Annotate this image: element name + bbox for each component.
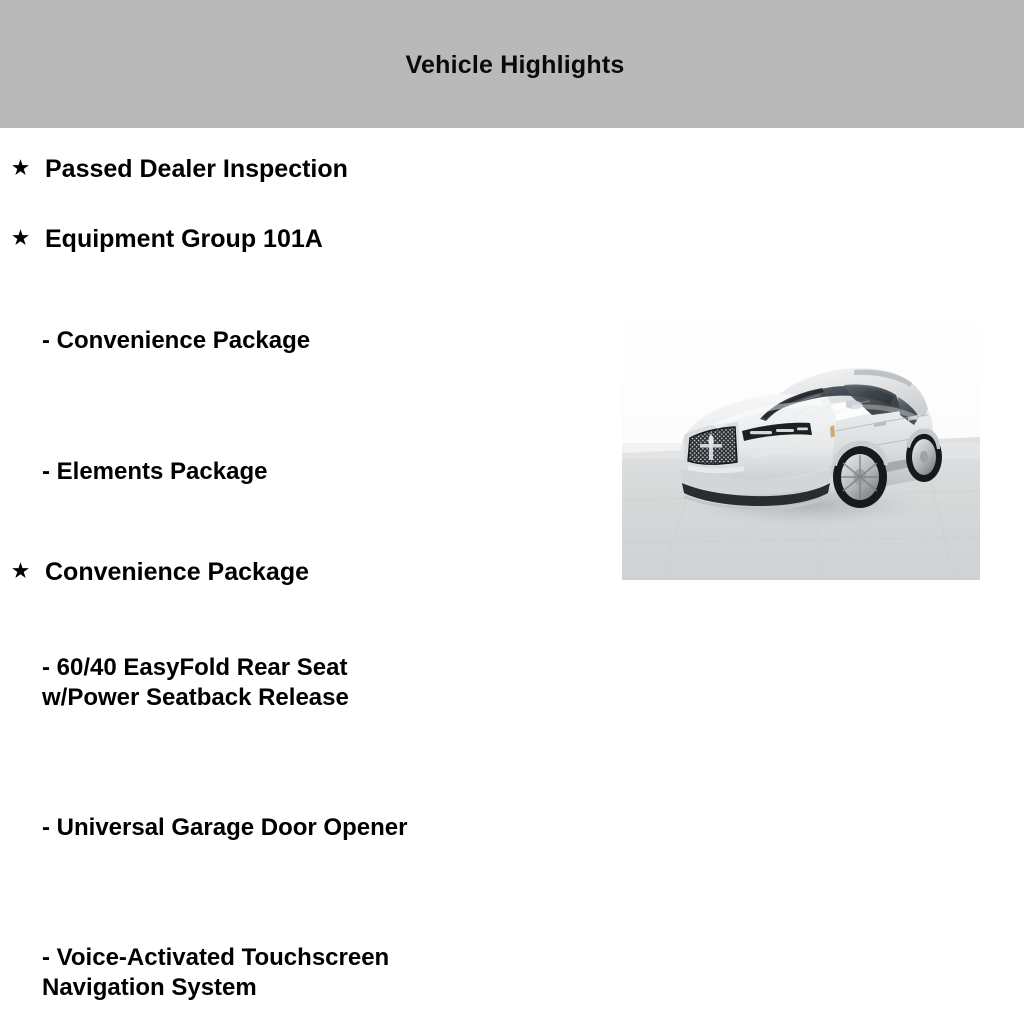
highlight-label: Convenience Package xyxy=(45,557,610,587)
page-title: Vehicle Highlights xyxy=(0,50,1024,80)
highlight-label: Equipment Group 101A xyxy=(45,224,610,254)
vehicle-photo-illustration xyxy=(622,305,980,580)
highlight-label: - Elements Package xyxy=(42,457,610,487)
highlight-label: - Voice-Activated Touchscreen Navigation… xyxy=(42,943,610,1003)
highlight-subitem-elements-package: - Elements Package xyxy=(0,427,610,517)
highlight-label: - Universal Garage Door Opener xyxy=(42,813,610,843)
vehicle-photo xyxy=(622,305,980,580)
highlight-subitem-voice-activated-navigation: - Voice-Activated Touchscreen Navigation… xyxy=(0,913,610,1033)
highlight-item-passed-dealer-inspection: ★ Passed Dealer Inspection xyxy=(0,154,610,184)
highlight-label: - 60/40 EasyFold Rear Seat w/Power Seatb… xyxy=(42,653,610,713)
star-bullet-icon: ★ xyxy=(12,224,34,254)
highlight-label: - Convenience Package xyxy=(42,326,610,356)
highlight-item-equipment-group-101a: ★ Equipment Group 101A xyxy=(0,224,610,254)
highlight-label: Passed Dealer Inspection xyxy=(45,154,610,184)
highlight-subitem-universal-garage-door-opener: - Universal Garage Door Opener xyxy=(0,783,610,873)
highlight-item-convenience-package: ★ Convenience Package xyxy=(0,557,610,587)
star-bullet-icon: ★ xyxy=(12,557,34,587)
header-bar: Vehicle Highlights xyxy=(0,0,1024,128)
highlight-subitem-convenience-package: - Convenience Package xyxy=(0,296,610,386)
star-bullet-icon: ★ xyxy=(12,154,34,184)
highlight-subitem-easyfold-rear-seat: - 60/40 EasyFold Rear Seat w/Power Seatb… xyxy=(0,623,610,743)
vehicle-highlights-list: ★ Passed Dealer Inspection ★ Equipment G… xyxy=(0,128,610,768)
